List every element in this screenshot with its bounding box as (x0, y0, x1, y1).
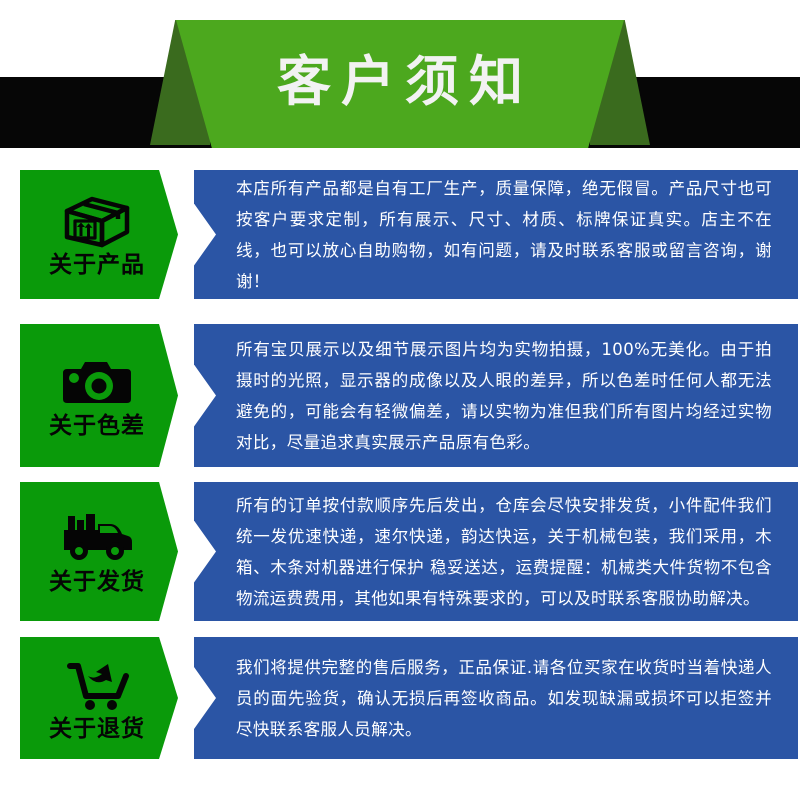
row-gap (0, 299, 800, 324)
camera-icon (58, 353, 136, 411)
section-label-card-color[interactable]: 关于色差 (20, 324, 178, 467)
section-text-card-color: 所有宝贝展示以及细节展示图片均为实物拍摄，100%无美化。由于拍摄时的光照，显示… (194, 324, 798, 467)
page-title: 客户须知 (267, 55, 533, 113)
section-text-card-return: 我们将提供完整的售后服务，正品保证.请各位买家在收货时当着快递人员的面先验货，确… (194, 637, 798, 759)
notice-row-return: 关于退货 我们将提供完整的售后服务，正品保证.请各位买家在收货时当着快递人员的面… (0, 637, 800, 759)
notice-sections: 关于产品 本店所有产品都是自有工厂生产，质量保障，绝无假冒。产品尺寸也可按客户要… (0, 170, 800, 759)
notice-row-shipping: 关于发货 所有的订单按付款顺序先后发出，仓库会尽快安排发货，小件配件我们统一发优… (0, 482, 800, 621)
banner-ribbon: 客户须知 (176, 20, 624, 148)
row-gap (0, 621, 800, 637)
section-body-text: 所有的订单按付款顺序先后发出，仓库会尽快安排发货，小件配件我们统一发优速快递，速… (194, 490, 798, 614)
section-label-text: 关于色差 (49, 415, 145, 438)
section-label-card-shipping[interactable]: 关于发货 (20, 482, 178, 621)
return-cart-icon (58, 656, 136, 714)
section-body-text: 本店所有产品都是自有工厂生产，质量保障，绝无假冒。产品尺寸也可按客户要求定制，所… (194, 173, 798, 297)
section-text-card-product: 本店所有产品都是自有工厂生产，质量保障，绝无假冒。产品尺寸也可按客户要求定制，所… (194, 170, 798, 299)
notice-row-color: 关于色差 所有宝贝展示以及细节展示图片均为实物拍摄，100%无美化。由于拍摄时的… (0, 324, 800, 467)
section-body-text: 我们将提供完整的售后服务，正品保证.请各位买家在收货时当着快递人员的面先验货，确… (194, 652, 798, 745)
delivery-truck-icon (58, 509, 136, 567)
page-header: 客户须知 (0, 0, 800, 170)
section-label-card-return[interactable]: 关于退货 (20, 637, 178, 759)
section-body-text: 所有宝贝展示以及细节展示图片均为实物拍摄，100%无美化。由于拍摄时的光照，显示… (194, 334, 798, 458)
section-label-text: 关于发货 (49, 571, 145, 594)
section-label-card-product[interactable]: 关于产品 (20, 170, 178, 299)
notice-row-product: 关于产品 本店所有产品都是自有工厂生产，质量保障，绝无假冒。产品尺寸也可按客户要… (0, 170, 800, 299)
row-gap (0, 467, 800, 482)
package-box-icon (58, 192, 136, 250)
section-label-text: 关于产品 (49, 254, 145, 277)
section-label-text: 关于退货 (49, 718, 145, 741)
section-text-card-shipping: 所有的订单按付款顺序先后发出，仓库会尽快安排发货，小件配件我们统一发优速快递，速… (194, 482, 798, 621)
